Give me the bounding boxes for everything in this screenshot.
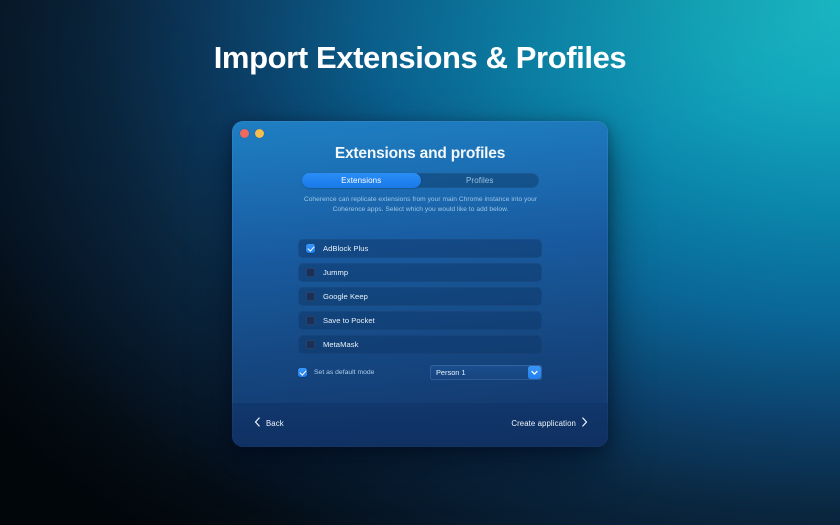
- window-footer: Back Create application: [232, 403, 608, 447]
- tab-extensions[interactable]: Extensions: [302, 173, 421, 188]
- extension-label: Save to Pocket: [323, 316, 375, 325]
- create-application-label: Create application: [511, 419, 576, 428]
- description-text: Coherence can replicate extensions from …: [294, 195, 547, 215]
- extensions-list: AdBlock Plus Jummp Google Keep Save to P…: [298, 239, 542, 359]
- profile-select[interactable]: Person 1: [430, 365, 542, 380]
- chevron-left-icon: [254, 417, 261, 429]
- chevron-down-icon[interactable]: [528, 366, 541, 379]
- extension-checkbox-checked[interactable]: [306, 244, 315, 253]
- extension-row[interactable]: Google Keep: [298, 287, 542, 306]
- set-as-default-mode-label: Set as default mode: [314, 369, 374, 376]
- extension-row[interactable]: MetaMask: [298, 335, 542, 354]
- extension-checkbox-unchecked[interactable]: [306, 340, 315, 349]
- extensions-and-profiles-window: Extensions and profiles Extensions Profi…: [232, 121, 608, 447]
- extension-label: MetaMask: [323, 340, 358, 349]
- tab-segmented-control: Extensions Profiles: [302, 173, 539, 188]
- page-title: Import Extensions & Profiles: [0, 40, 840, 76]
- extension-label: Jummp: [323, 268, 348, 277]
- back-button[interactable]: Back: [254, 417, 284, 429]
- tab-profiles[interactable]: Profiles: [421, 173, 540, 188]
- default-mode-row: Set as default mode Person 1: [298, 365, 542, 380]
- window-traffic-lights: [240, 129, 264, 138]
- screenshot-stage: Import Extensions & Profiles Extensions …: [0, 0, 840, 525]
- extension-checkbox-unchecked[interactable]: [306, 292, 315, 301]
- extension-row[interactable]: Jummp: [298, 263, 542, 282]
- minimize-window-button[interactable]: [255, 129, 264, 138]
- chevron-right-icon: [581, 417, 588, 429]
- window-title: Extensions and profiles: [232, 145, 608, 163]
- extension-row[interactable]: Save to Pocket: [298, 311, 542, 330]
- set-as-default-mode-checkbox[interactable]: [298, 368, 307, 377]
- create-application-button[interactable]: Create application: [511, 417, 588, 429]
- extension-checkbox-unchecked[interactable]: [306, 268, 315, 277]
- extension-row[interactable]: AdBlock Plus: [298, 239, 542, 258]
- close-window-button[interactable]: [240, 129, 249, 138]
- extension-label: AdBlock Plus: [323, 244, 368, 253]
- profile-select-value: Person 1: [436, 368, 466, 377]
- back-button-label: Back: [266, 419, 284, 428]
- extension-checkbox-unchecked[interactable]: [306, 316, 315, 325]
- extension-label: Google Keep: [323, 292, 368, 301]
